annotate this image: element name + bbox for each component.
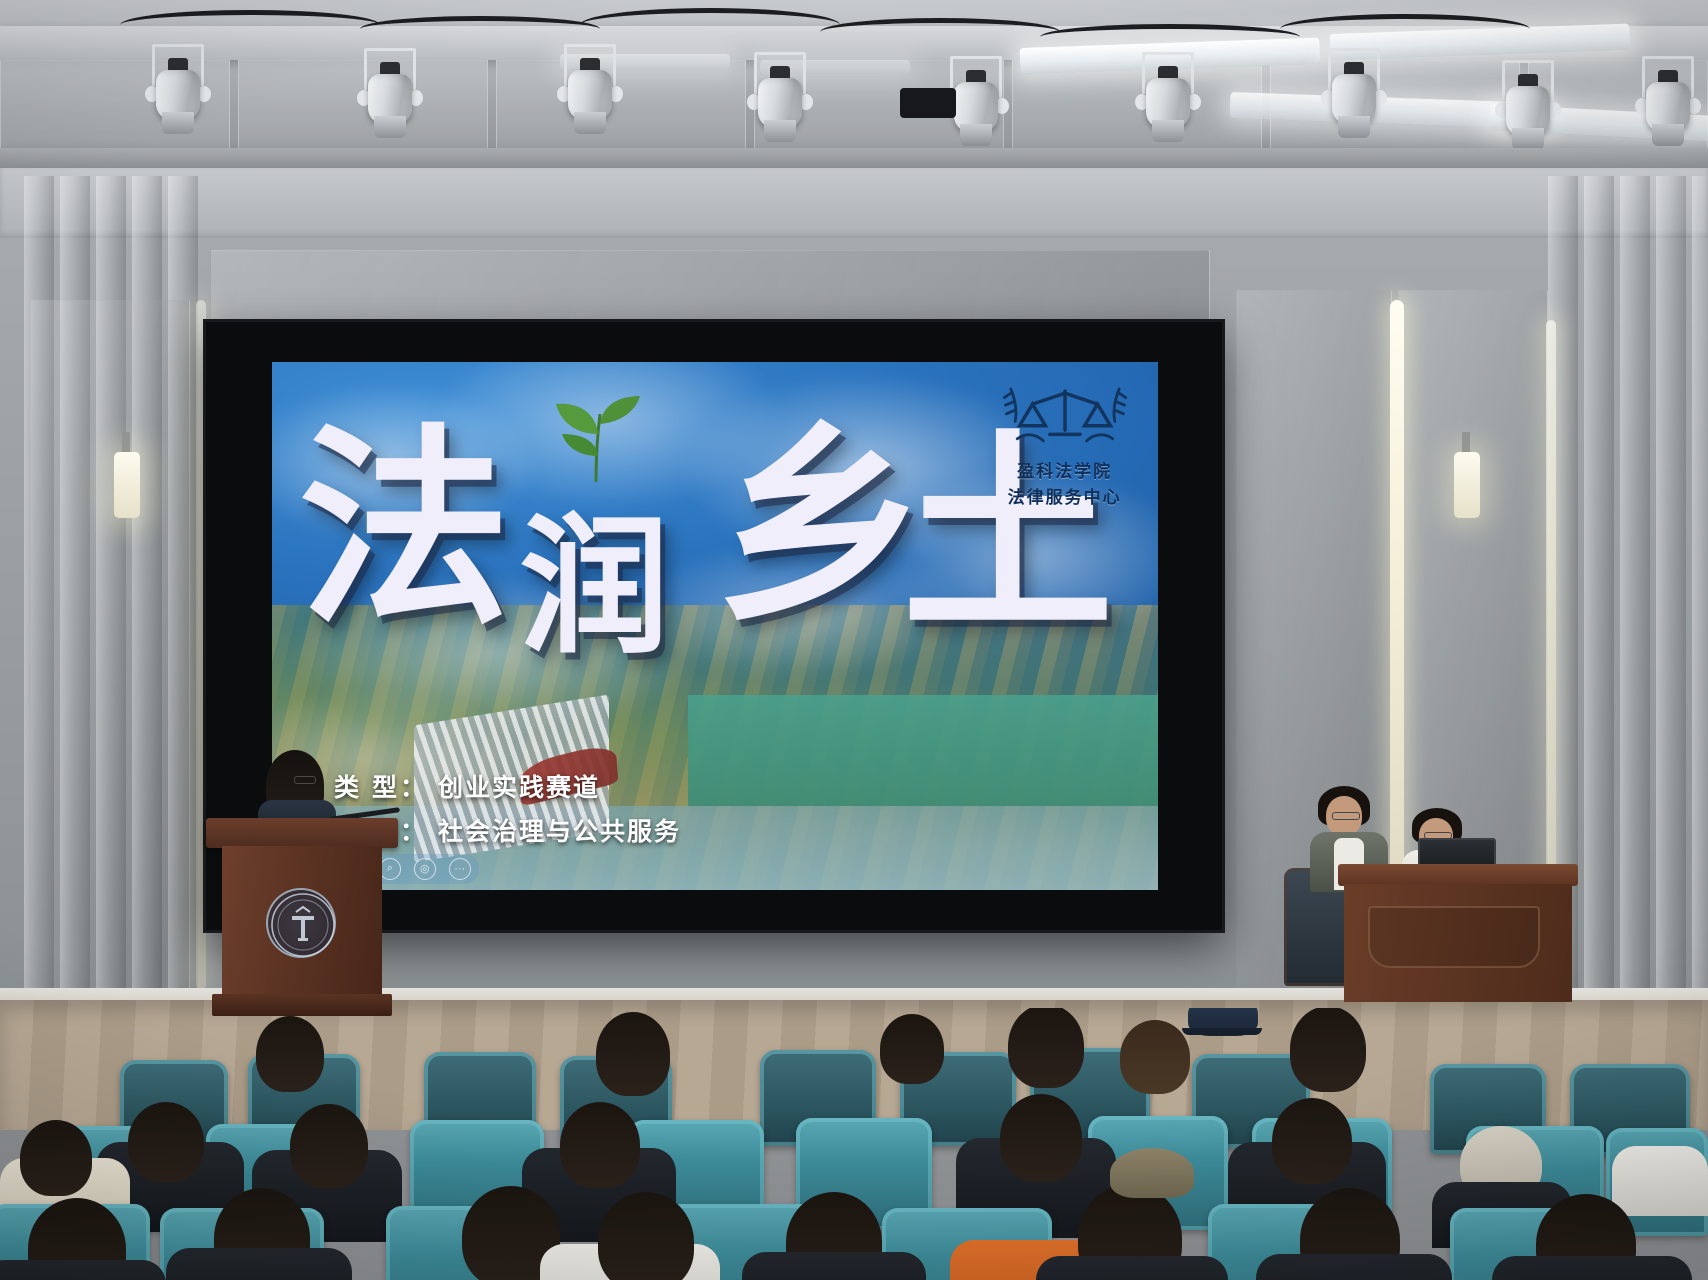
wall-pilaster bbox=[1692, 176, 1708, 1026]
podium bbox=[214, 818, 390, 1018]
stage-spotlight bbox=[1326, 48, 1382, 136]
ceiling bbox=[0, 0, 1708, 180]
more-icon[interactable]: ··· bbox=[449, 858, 471, 880]
slide-logo-line2: 法律服务中心 bbox=[1000, 483, 1130, 508]
slide-meta-value-type: 创业实践赛道 bbox=[438, 768, 600, 804]
ceiling-device bbox=[900, 88, 956, 118]
stage-spotlight bbox=[1640, 56, 1696, 144]
audience-shoulders bbox=[1036, 1256, 1228, 1280]
scales-of-justice-icon bbox=[1000, 380, 1130, 452]
power-cable bbox=[360, 16, 600, 42]
leaf-sprig-icon bbox=[538, 394, 658, 486]
stage-spotlight bbox=[1140, 52, 1196, 140]
audience-head bbox=[1000, 1094, 1082, 1182]
audience-head bbox=[1290, 1008, 1366, 1092]
wall-pilaster bbox=[1656, 176, 1686, 1026]
wall-panel bbox=[210, 250, 1210, 322]
wall-accent-light bbox=[196, 300, 206, 990]
stage-spotlight bbox=[752, 52, 808, 140]
record-icon[interactable]: ◎ bbox=[414, 858, 436, 880]
audience-cap bbox=[1110, 1148, 1194, 1198]
audience-head bbox=[1008, 1008, 1084, 1088]
ceiling-panel bbox=[496, 60, 746, 152]
slide-meta-value-group: 社会治理与公共服务 bbox=[438, 812, 681, 848]
stage-spotlight bbox=[150, 44, 206, 132]
slide-logo-line1: 盈科法学院 bbox=[1000, 457, 1130, 482]
audience-head bbox=[596, 1012, 670, 1096]
power-cable bbox=[120, 10, 380, 40]
university-crest-icon bbox=[268, 890, 338, 960]
audience-head bbox=[1272, 1098, 1352, 1184]
audience-shoulders bbox=[1612, 1146, 1708, 1216]
stage-spotlight bbox=[562, 44, 618, 132]
slide-logo: 盈科法学院 法律服务中心 bbox=[1000, 380, 1130, 508]
audience-head bbox=[290, 1104, 368, 1188]
glasses-icon bbox=[1332, 812, 1360, 820]
stage-spotlight bbox=[362, 48, 418, 136]
wall-pilaster bbox=[1584, 176, 1614, 1026]
university-emblem bbox=[266, 888, 336, 958]
ceiling-cornice bbox=[0, 148, 1708, 168]
audience-head bbox=[880, 1014, 944, 1084]
wall-upper-band bbox=[0, 168, 1708, 238]
slide-meta-label-type: 类 型： bbox=[334, 768, 428, 804]
power-cable bbox=[580, 8, 840, 42]
wall-sconce-right bbox=[1454, 452, 1480, 518]
audience-shoulders bbox=[166, 1248, 352, 1280]
audience-head bbox=[20, 1120, 92, 1196]
audience-head bbox=[128, 1102, 204, 1182]
power-cable bbox=[820, 18, 1060, 46]
wall-sconce-left bbox=[114, 452, 140, 518]
audience-area bbox=[0, 1008, 1708, 1280]
wall-pilaster bbox=[1620, 176, 1650, 1026]
audience-head bbox=[560, 1102, 640, 1188]
judges-table bbox=[1338, 864, 1578, 1014]
stage-spotlight bbox=[948, 56, 1004, 144]
slide-green-banner bbox=[688, 695, 1158, 806]
presentation-slide[interactable]: 法 润 乡 土 bbox=[272, 362, 1158, 890]
glasses-icon bbox=[294, 776, 316, 784]
stage-spotlight bbox=[1500, 60, 1556, 148]
audience-shoulders bbox=[0, 1260, 166, 1280]
cap-brim bbox=[1182, 1028, 1262, 1035]
audience-shoulders bbox=[1492, 1256, 1692, 1280]
audience-shoulders bbox=[742, 1252, 926, 1280]
audience-head bbox=[1120, 1020, 1190, 1094]
power-cable bbox=[1280, 14, 1530, 44]
audience-shoulders bbox=[1256, 1254, 1452, 1280]
power-cable bbox=[1040, 24, 1300, 50]
audience-head bbox=[256, 1016, 324, 1092]
slide-meta-row: 类 型： 创业实践赛道 bbox=[334, 768, 681, 804]
wall-panel bbox=[30, 300, 190, 990]
auditorium-scene: 法 润 乡 土 bbox=[0, 0, 1708, 1280]
